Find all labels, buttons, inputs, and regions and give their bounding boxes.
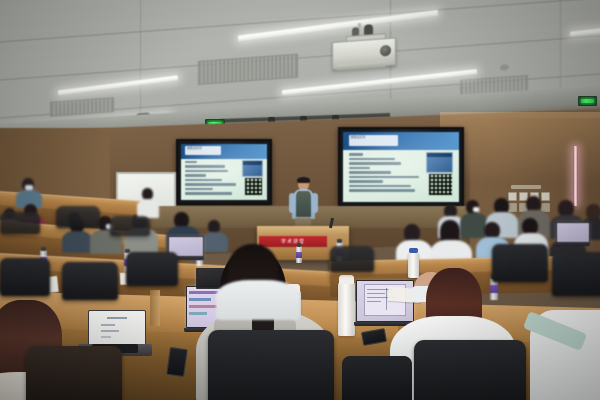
ceiling-speaker-2 — [500, 64, 509, 71]
chair[interactable] — [110, 216, 150, 236]
chair[interactable] — [330, 246, 374, 272]
chair[interactable] — [0, 212, 40, 234]
slide-right: 投影幻灯片 — [343, 132, 459, 202]
chair[interactable] — [62, 262, 118, 300]
chair[interactable] — [552, 252, 600, 296]
laptop-base — [554, 243, 590, 246]
chair[interactable] — [56, 206, 100, 228]
slide-thumbnail-left — [242, 160, 263, 177]
tablet-note-line — [101, 330, 119, 332]
chair[interactable] — [126, 252, 178, 286]
foreground-attendee-right-edge — [530, 300, 600, 400]
presenter-arm-right — [312, 193, 318, 213]
tube-light-1 — [58, 75, 178, 95]
desk-partition — [150, 290, 160, 326]
slide-bullets-right — [349, 153, 421, 198]
attendee-near-whiteboard — [136, 188, 160, 218]
air-vent-center — [198, 54, 298, 85]
presenter — [288, 178, 318, 232]
lecture-hall-photo: 投影幻灯片 投影幻灯片 — [0, 0, 600, 400]
tablet-note-line — [101, 324, 115, 326]
chair[interactable] — [208, 330, 334, 400]
qr-code-left — [244, 177, 263, 196]
thermos-flask — [338, 282, 355, 336]
tablet-note-line — [101, 336, 111, 338]
exit-sign-right — [578, 96, 597, 106]
laptop-screen — [556, 222, 590, 243]
projection-screen-right: 投影幻灯片 — [338, 127, 464, 207]
qr-code-right — [428, 173, 453, 196]
air-vent-left — [50, 97, 114, 117]
chair[interactable] — [26, 346, 122, 400]
presenter-vest — [296, 191, 311, 217]
tube-light-4 — [282, 69, 477, 95]
chair-back[interactable] — [342, 356, 412, 400]
projector-right — [332, 32, 396, 75]
smartphone[interactable] — [166, 347, 188, 377]
attendee-top — [216, 280, 300, 320]
slide-bullets-left — [185, 161, 238, 197]
slide-left: 投影幻灯片 — [181, 144, 267, 200]
panel-label — [511, 185, 541, 189]
attendee-mask — [473, 207, 479, 212]
projection-screen-left: 投影幻灯片 — [176, 139, 272, 205]
chair[interactable] — [0, 258, 50, 296]
slide-thumbnail-right — [426, 152, 454, 173]
foreground-attendee-dark — [214, 244, 314, 316]
attendee-body — [62, 231, 92, 253]
chair[interactable] — [492, 244, 548, 282]
presenter-hair — [297, 177, 310, 183]
slide-title-left: 投影幻灯片 — [185, 146, 221, 155]
laptop[interactable] — [556, 222, 588, 244]
chair[interactable] — [414, 340, 526, 400]
presenter-arm-left — [289, 193, 295, 213]
tablet-note-line — [107, 317, 127, 319]
tube-light-6 — [570, 19, 600, 37]
slide-title-right: 投影幻灯片 — [349, 135, 398, 146]
